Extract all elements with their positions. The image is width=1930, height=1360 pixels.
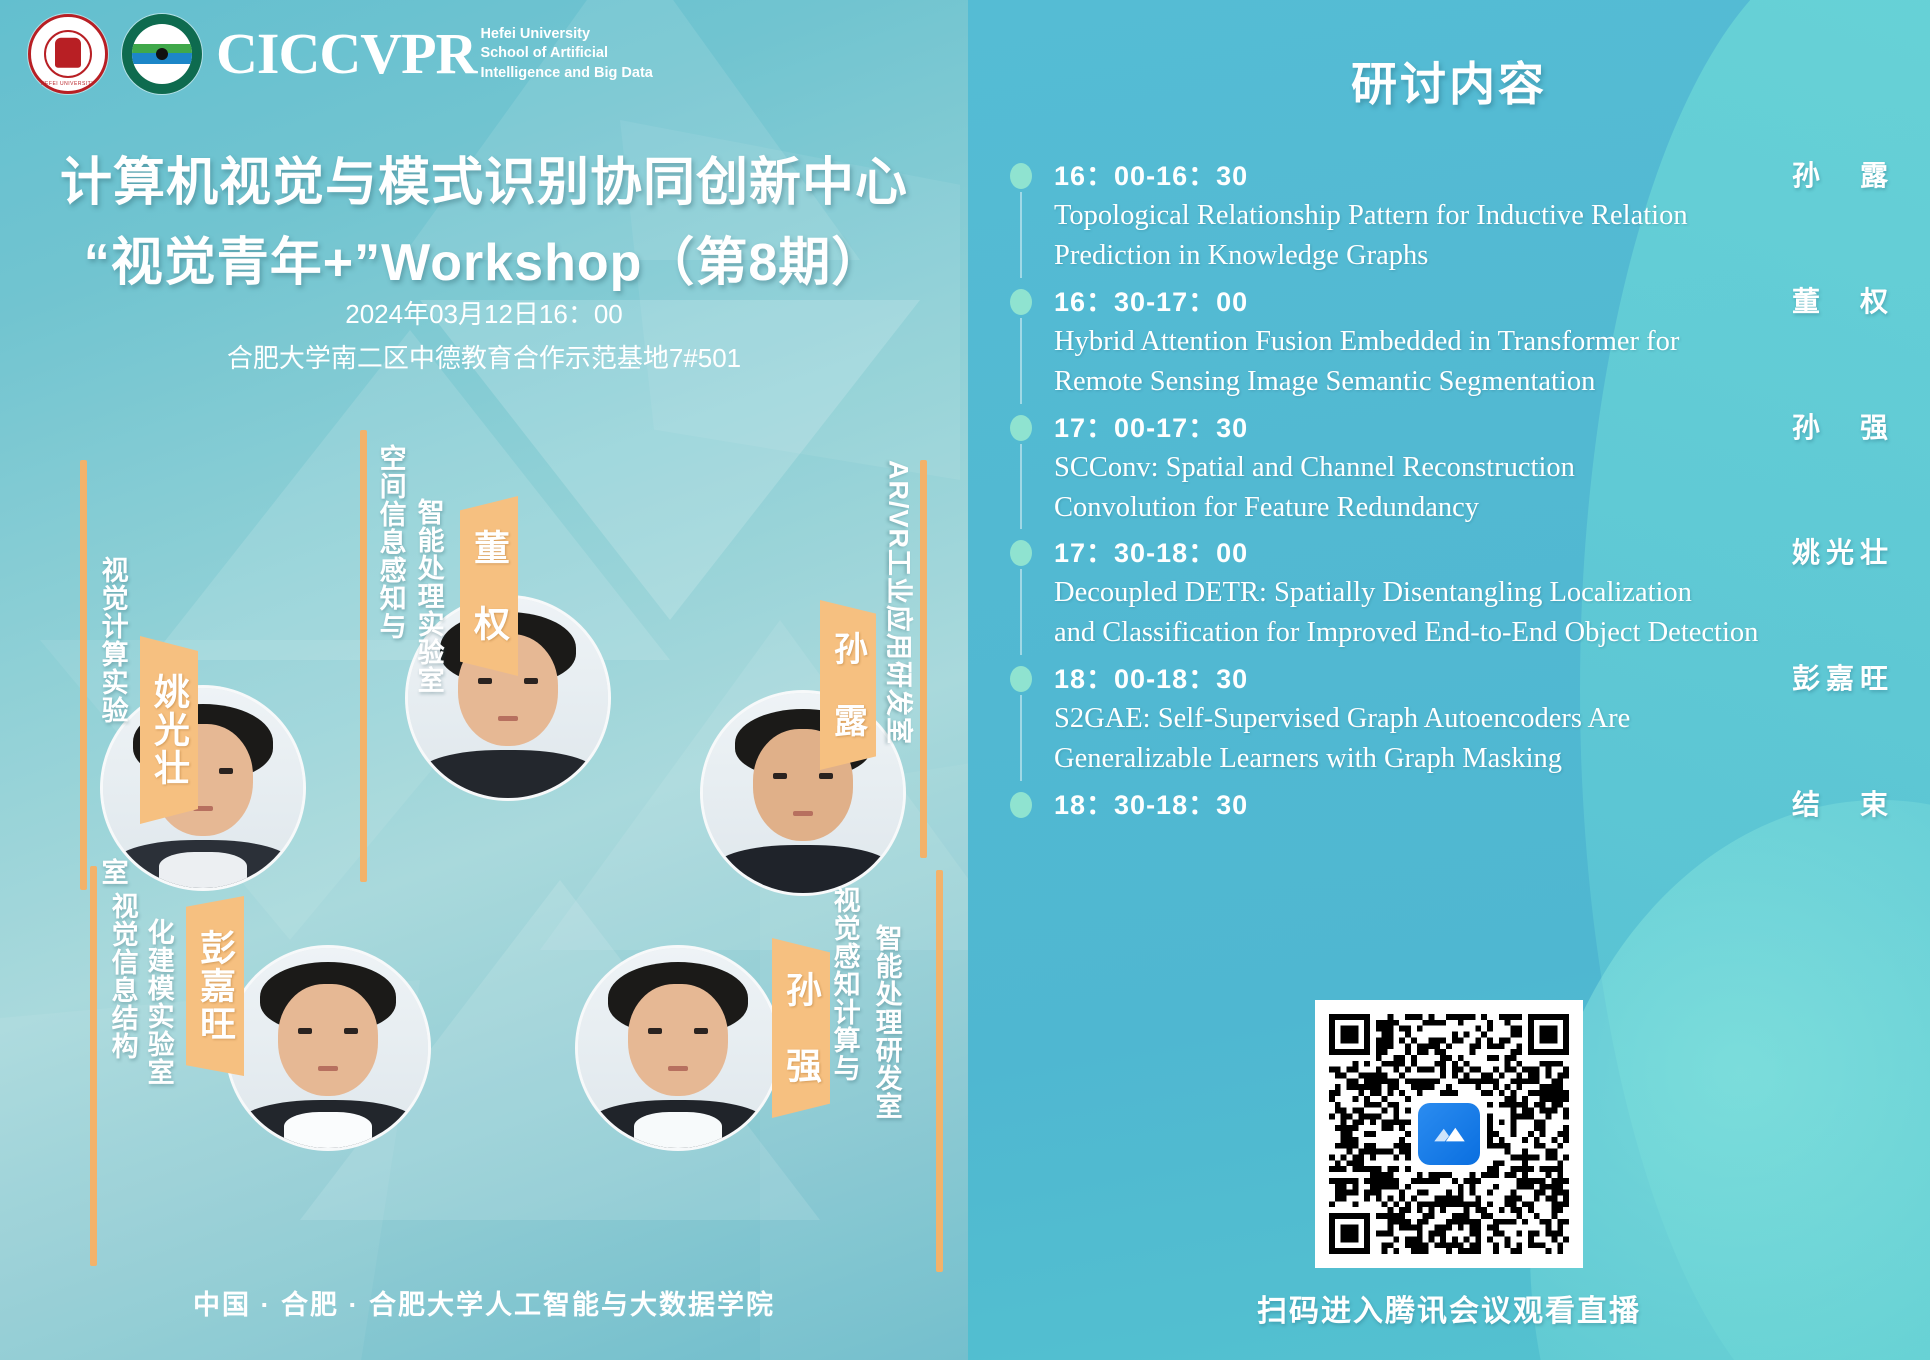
agenda-speaker: 姚光壮	[1792, 531, 1894, 571]
left-footer: 中国 · 合肥 · 合肥大学人工智能与大数据学院	[0, 1283, 968, 1322]
page-title-line2: “视觉青年+”Workshop（第8期）	[0, 220, 968, 295]
timeline-stem	[1020, 695, 1022, 781]
bullet-dot-icon	[1010, 163, 1032, 189]
timeline-stem	[1020, 444, 1022, 530]
avatar	[575, 945, 781, 1151]
timeline-stem	[1020, 569, 1022, 655]
agenda-time: 17：00-17：30	[1054, 406, 1248, 445]
lab-name-sunqiang-col2: 智能处理研发室	[872, 924, 901, 1254]
lab-name-dong-col1: 空间信息感知与	[376, 444, 405, 774]
list-item: 18：30-18：30 结 束	[1010, 783, 1894, 823]
lab-name-yao-col1: 视觉计算实验	[98, 556, 127, 856]
timeline-stem	[1020, 318, 1022, 404]
page-title-line1: 计算机视觉与模式识别协同创新中心	[0, 140, 968, 215]
lab-name-peng-col1: 视觉信息结构	[108, 892, 137, 1192]
portrait-sun-qiang	[578, 948, 778, 1148]
lab-name-peng-col2: 化建模实验室	[144, 918, 173, 1248]
tencent-meeting-logo-icon	[1418, 1103, 1480, 1165]
agenda-speaker: 结 束	[1792, 783, 1894, 823]
lab-tag-yao: 视觉计算实验 室 姚光壮	[62, 460, 252, 900]
event-location: 合肥大学南二区中德教育合作示范基地7#501	[0, 338, 968, 375]
ciccvpr-seal-icon: 20 16	[122, 14, 202, 94]
brand-subtitle: Hefei University School of Artificial In…	[480, 25, 652, 82]
lab-name-dong-col2: 智能处理实验室	[414, 498, 443, 828]
list-item: 17：00-17：30 孙 强 SCConv: Spatial and Chan…	[1010, 406, 1894, 532]
hefei-university-seal-icon: HEFEI UNIVERSITY	[28, 14, 108, 94]
brand-bar: HEFEI UNIVERSITY 20 16 CICCVPR Hefei Uni…	[28, 14, 653, 94]
right-panel: 研讨内容 16：00-16：30 孙 露 Topological Relatio…	[968, 0, 1930, 1360]
agenda-paper-line1: SCConv: Spatial and Channel Reconstructi…	[1054, 450, 1894, 486]
agenda-speaker: 孙 强	[1792, 406, 1894, 446]
seal-year: 20 16	[125, 76, 199, 83]
agenda-title: 研讨内容	[968, 0, 1930, 114]
lab-tag-peng: 视觉信息结构 化建模实验室 彭嘉旺	[74, 862, 274, 1282]
brand-subtitle-line3: Intelligence and Big Data	[480, 64, 652, 83]
agenda-time: 16：00-16：30	[1054, 154, 1248, 193]
agenda-paper-line2: Prediction in Knowledge Graphs	[1054, 238, 1894, 274]
agenda-paper-line2: and Classification for Improved End-to-E…	[1054, 615, 1894, 651]
agenda-speaker: 孙 露	[1792, 154, 1894, 194]
speaker-name-sunqiang: 孙 强	[772, 938, 830, 1118]
speaker-name-yao: 姚光壮	[140, 636, 198, 824]
qr-section: 扫码进入腾讯会议观看直播	[968, 1000, 1930, 1330]
speaker-name-dong: 董 权	[460, 496, 518, 676]
brand-subtitle-line2: School of Artificial	[480, 44, 652, 63]
speaker-name-sunlu: 孙 露	[820, 600, 876, 770]
agenda-speaker: 董 权	[1792, 280, 1894, 320]
agenda-time: 17：30-18：00	[1054, 531, 1248, 570]
speaker-name-peng: 彭嘉旺	[186, 896, 244, 1076]
agenda-paper-line2: Generalizable Learners with Graph Maskin…	[1054, 741, 1894, 777]
brand-acronym: CICCVPR	[216, 26, 476, 81]
agenda-paper-line2: Convolution for Feature Redundancy	[1054, 490, 1894, 526]
bullet-dot-icon	[1010, 792, 1032, 818]
agenda-paper-line1: Hybrid Attention Fusion Embedded in Tran…	[1054, 324, 1894, 360]
timeline-stem	[1020, 192, 1022, 278]
seal-caption: HEFEI UNIVERSITY	[31, 81, 105, 87]
list-item: 16：30-17：00 董 权 Hybrid Attention Fusion …	[1010, 280, 1894, 406]
agenda-paper-line1: Decoupled DETR: Spatially Disentangling …	[1054, 575, 1894, 611]
lab-tag-dong: 智能处理实验室 空间信息感知与 董 权	[348, 430, 548, 900]
poster: HEFEI UNIVERSITY 20 16 CICCVPR Hefei Uni…	[0, 0, 1930, 1360]
lab-tag-sunlu: AR/VR工业应用研发室 孙 露	[856, 448, 968, 868]
agenda-paper-line1: S2GAE: Self-Supervised Graph Autoencoder…	[1054, 701, 1894, 737]
list-item: 18：00-18：30 彭嘉旺 S2GAE: Self-Supervised G…	[1010, 657, 1894, 783]
bullet-dot-icon	[1010, 540, 1032, 566]
left-panel: HEFEI UNIVERSITY 20 16 CICCVPR Hefei Uni…	[0, 0, 968, 1360]
lab-name-sunqiang-col1: 视觉感知计算与	[830, 886, 859, 1216]
qr-code[interactable]	[1315, 1000, 1583, 1268]
agenda-list: 16：00-16：30 孙 露 Topological Relationship…	[1010, 154, 1894, 823]
lab-tag-sunqiang: 视觉感知计算与 智能处理研发室 孙 强	[776, 862, 968, 1282]
qr-caption: 扫码进入腾讯会议观看直播	[968, 1286, 1930, 1330]
bullet-dot-icon	[1010, 415, 1032, 441]
list-item: 17：30-18：00 姚光壮 Decoupled DETR: Spatiall…	[1010, 531, 1894, 657]
event-datetime: 2024年03月12日16：00	[0, 294, 968, 331]
agenda-time: 18：30-18：30	[1054, 783, 1248, 822]
agenda-paper-line2: Remote Sensing Image Semantic Segmentati…	[1054, 364, 1894, 400]
agenda-speaker: 彭嘉旺	[1792, 657, 1894, 697]
bullet-dot-icon	[1010, 289, 1032, 315]
agenda-time: 18：00-18：30	[1054, 657, 1248, 696]
brand-subtitle-line1: Hefei University	[480, 25, 652, 44]
lab-name-sunlu: AR/VR工业应用研发室	[884, 460, 913, 850]
bullet-dot-icon	[1010, 666, 1032, 692]
agenda-time: 16：30-17：00	[1054, 280, 1248, 319]
agenda-paper-line1: Topological Relationship Pattern for Ind…	[1054, 198, 1894, 234]
list-item: 16：00-16：30 孙 露 Topological Relationship…	[1010, 154, 1894, 280]
